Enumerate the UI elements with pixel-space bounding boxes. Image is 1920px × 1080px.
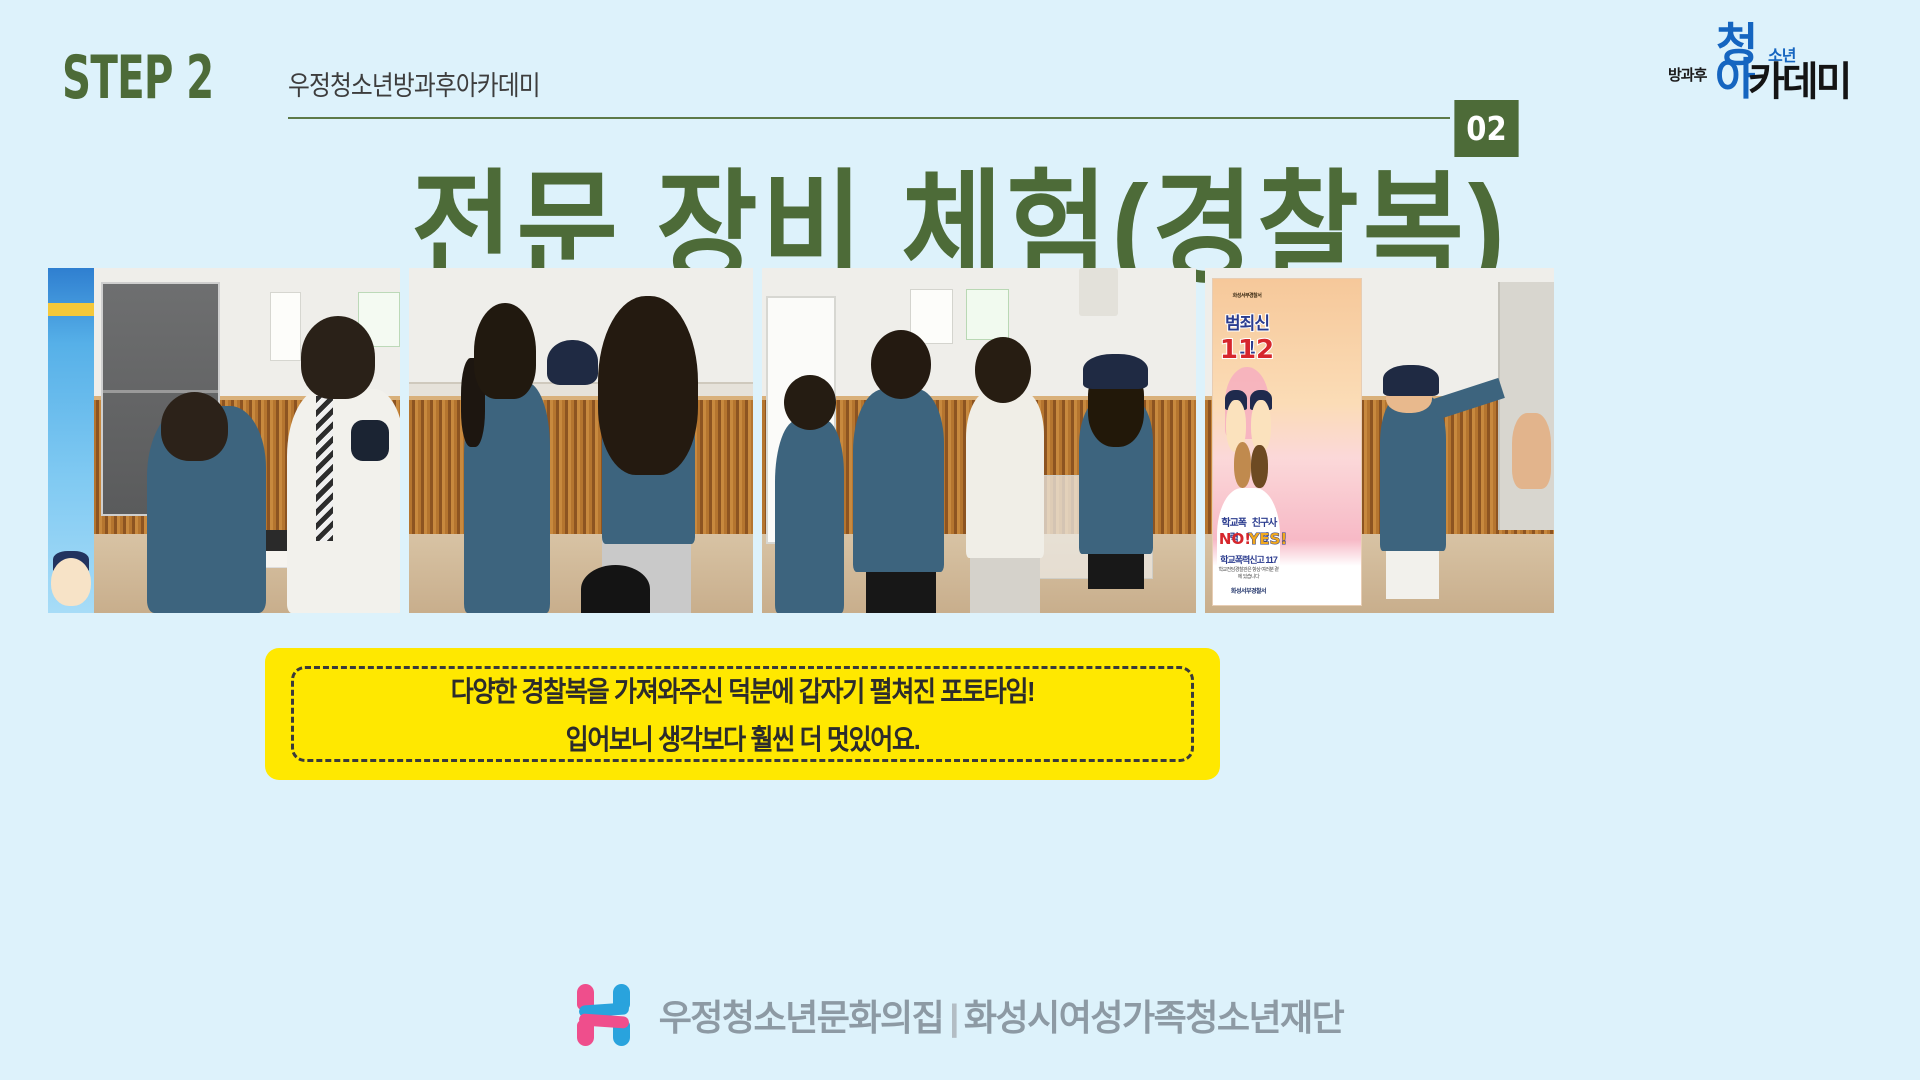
footer-org-primary: 우정청소년문화의집: [659, 997, 944, 1038]
student-left-uniform: [775, 420, 844, 613]
caption-box: 다양한 경찰복을 가져와주신 덕분에 갑자기 펼쳐진 포토타임! 입어보니 생각…: [265, 648, 1220, 780]
page-footer: 우정청소년문화의집|화성시여성가족청소년재단: [0, 960, 1920, 1070]
banner-report-sub: 학교전담경찰관은 항상 여러분 곁에 있습니다: [1217, 566, 1279, 580]
photo-3: [762, 268, 1196, 613]
step-label: STEP 2: [62, 44, 213, 113]
footer-separator: |: [943, 997, 964, 1038]
header-divider: [288, 117, 1450, 119]
blue-standing-banner: [48, 268, 94, 613]
footer-org-secondary: 화성시여성가족청소년재단: [964, 997, 1343, 1038]
caption-dashed-frame: 다양한 경찰복을 가져와주신 덕분에 갑자기 펼쳐진 포토타임! 입어보니 생각…: [291, 666, 1194, 762]
police-cap-on-shelf: [547, 340, 599, 385]
caption-line-1: 다양한 경찰복을 가져와주신 덕분에 갑자기 펼쳐진 포토타임!: [451, 670, 1034, 710]
banner-slogan-left-answer: NO!: [1219, 530, 1249, 548]
student-mid-head: [871, 330, 932, 399]
student-right-cap: [1083, 354, 1148, 389]
door: [1498, 282, 1554, 530]
student-mid-uniform: [853, 389, 944, 572]
photo-1: [48, 268, 400, 613]
police-shoulder-patch: [351, 420, 390, 461]
wall-poster-d: [966, 289, 1009, 341]
student-navy-head: [161, 392, 228, 461]
air-conditioner: [1079, 268, 1118, 316]
student-b-hair: [598, 296, 698, 475]
banner-report-line: 학교폭력신고 117: [1217, 553, 1279, 566]
logo-academy-text: 카데미: [1748, 60, 1849, 104]
program-name: 우정청소년방과후아카데미: [288, 64, 540, 103]
banner-child-1: [1234, 442, 1252, 488]
student-pose-uniform: [1380, 396, 1446, 551]
photo-4: 화성서부경찰서 범죄신고 112 학교폭력 친구사랑 NO! YES! 학교폭력…: [1205, 268, 1554, 613]
banner-emergency-number: 112: [1219, 335, 1275, 365]
adult-head: [975, 337, 1031, 403]
caption-line-2: 입어보니 생각보다 훨씬 더 멋있어요.: [566, 718, 920, 758]
banner-child-2: [1251, 445, 1267, 487]
footer-org-line: 우정청소년문화의집|화성시여성가족청소년재단: [659, 989, 1344, 1041]
photo-gallery: 화성서부경찰서 범죄신고 112 학교폭력 친구사랑 NO! YES! 학교폭력…: [48, 268, 1872, 613]
adult-white-shirt: [966, 392, 1044, 558]
banner-footer-org: 화성서부경찰서: [1217, 586, 1279, 595]
photo-2: [409, 268, 753, 613]
banner-org-name: 화성서부경찰서: [1222, 292, 1272, 299]
student-left-head: [784, 375, 836, 430]
banner-officer-face-2: [1251, 400, 1270, 452]
student-pose-cap: [1383, 365, 1439, 396]
banner-slogan-right-answer: YES!: [1249, 530, 1280, 548]
wall-poster-a: [270, 292, 302, 361]
foundation-logo-icon: [577, 982, 639, 1048]
necktie: [316, 396, 334, 541]
logo-prefix-text: 방과후: [1668, 64, 1706, 85]
student-a-hair: [474, 303, 536, 400]
student-white-head: [301, 316, 375, 399]
academy-logo: 방과후 청 소년 아 카데미: [1668, 22, 1888, 100]
crime-report-banner: 화성서부경찰서 범죄신고 112 학교폭력 친구사랑 NO! YES! 학교폭력…: [1212, 278, 1362, 606]
bag-foreground: [581, 565, 650, 613]
foreground-hand: [1512, 413, 1550, 489]
